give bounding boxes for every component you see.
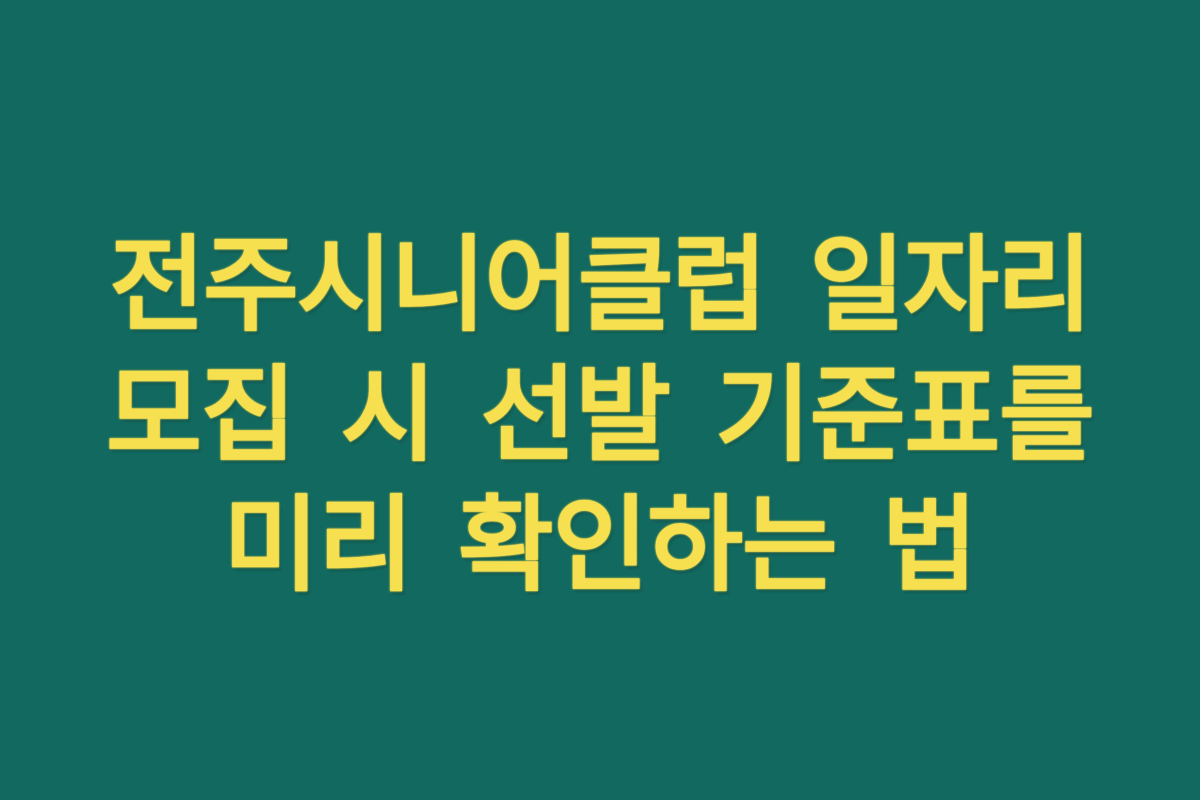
headline-text-block: 전주시니어클럽 일자리 모집 시 선발 기준표를 미리 확인하는 법 <box>40 220 1160 610</box>
headline-line-2: 모집 시 선발 기준표를 <box>106 350 1094 480</box>
headline-line-3: 미리 확인하는 법 <box>223 480 976 610</box>
headline-line-1: 전주시니어클럽 일자리 <box>109 220 1090 350</box>
title-card: 전주시니어클럽 일자리 모집 시 선발 기준표를 미리 확인하는 법 <box>0 0 1200 800</box>
